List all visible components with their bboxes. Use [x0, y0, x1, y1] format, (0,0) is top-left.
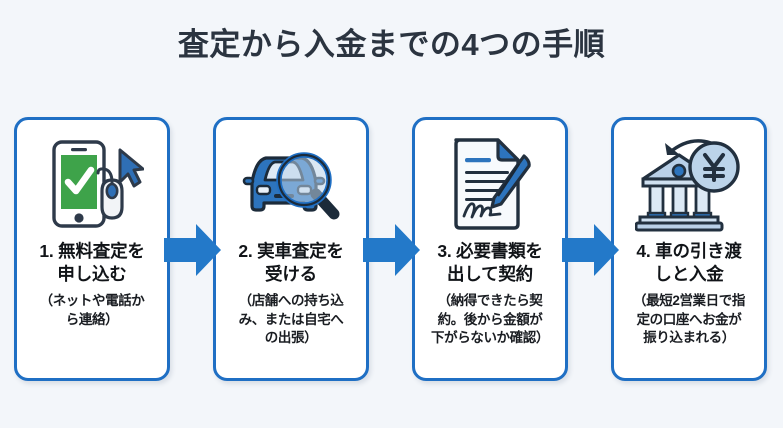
step-card-2[interactable]: 2. 実車査定を受ける （店舗への持ち込み、または自宅への出張）	[213, 117, 369, 381]
step-note-4: （最短2営業日で指定の口座へお金が振り込まれる）	[628, 286, 750, 347]
smartphone-check-mouse-icon	[37, 132, 147, 236]
contract-pen-icon	[435, 132, 545, 236]
bank-yen-icon	[634, 132, 744, 236]
step-note-1: （ネットや電話から連絡）	[35, 286, 150, 329]
step-label-2: 2. 実車査定を受ける	[232, 240, 349, 286]
page-title: 査定から入金までの4つの手順	[0, 26, 783, 63]
step-note-3: （納得できたら契約。後から金額が下がらないか確認）	[426, 286, 554, 347]
car-magnifier-icon	[236, 132, 346, 236]
step-note-2: （店舗への持ち込み、または自宅への出張）	[234, 286, 349, 347]
step-label-1: 1. 無料査定を申し込む	[33, 240, 150, 286]
arrow-step-2-to-3	[363, 222, 421, 278]
steps-row: 1. 無料査定を申し込む （ネットや電話から連絡）	[0, 117, 783, 387]
step-card-1[interactable]: 1. 無料査定を申し込む （ネットや電話から連絡）	[14, 117, 170, 381]
step-label-3: 3. 必要書類を出して契約	[431, 240, 548, 286]
step-label-4: 4. 車の引き渡しと入金	[630, 240, 747, 286]
arrow-step-1-to-2	[164, 222, 222, 278]
arrow-step-3-to-4	[562, 222, 620, 278]
step-card-3[interactable]: 3. 必要書類を出して契約 （納得できたら契約。後から金額が下がらないか確認）	[412, 117, 568, 381]
step-card-4[interactable]: 4. 車の引き渡しと入金 （最短2営業日で指定の口座へお金が振り込まれる）	[611, 117, 767, 381]
